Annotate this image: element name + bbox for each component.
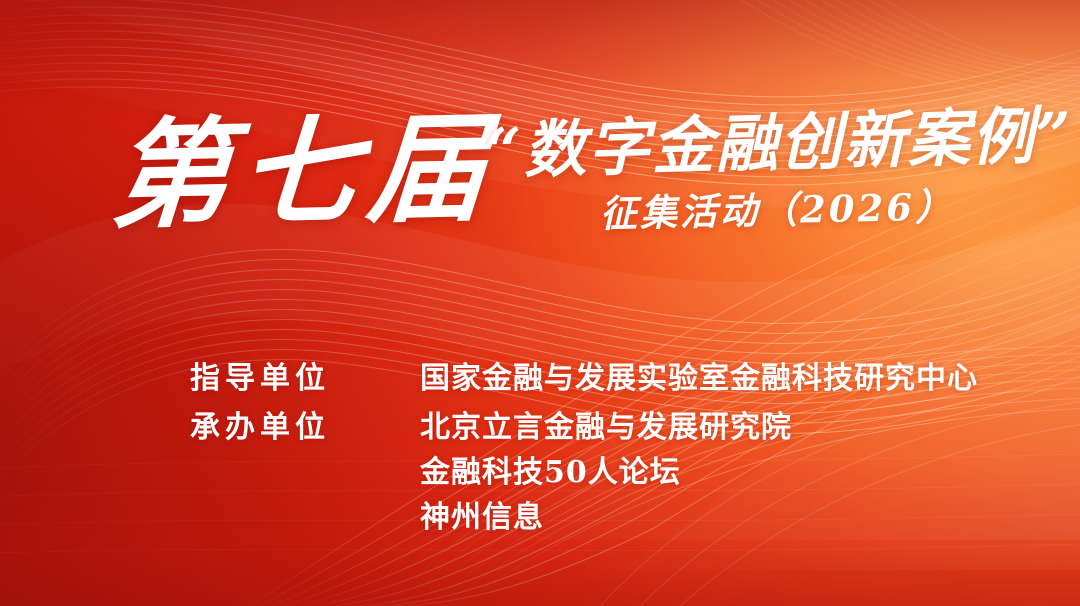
credit-value: 北京立言金融与发展研究院 [420,405,1050,450]
credits-block: 指导单位 国家金融与发展实验室金融科技研究中心 承办单位 北京立言金融与发展研究… [190,356,1050,544]
edition-title: 第七届 [107,104,500,239]
credit-values-guidance: 国家金融与发展实验室金融科技研究中心 [420,356,1050,401]
poster-content: 第七届 “数字金融创新案例” 征集活动（2026） 指导单位 国家金融与发展实验… [0,0,1080,606]
credit-value: 金融科技50人论坛 [420,450,1050,495]
credit-value: 神州信息 [420,495,1050,540]
credit-values-organizer: 北京立言金融与发展研究院 金融科技50人论坛 神州信息 [420,405,1050,540]
main-headline: “数字金融创新案例” [485,104,1047,184]
subtitle-year: 征集活动（2026） [600,186,956,234]
credit-label-organizer: 承办单位 [190,405,420,450]
credit-label-guidance: 指导单位 [190,356,420,401]
poster-banner: 第七届 “数字金融创新案例” 征集活动（2026） 指导单位 国家金融与发展实验… [0,0,1080,606]
credit-value: 国家金融与发展实验室金融科技研究中心 [420,356,1050,401]
credit-row: 承办单位 北京立言金融与发展研究院 金融科技50人论坛 神州信息 [190,405,1050,540]
credit-row: 指导单位 国家金融与发展实验室金融科技研究中心 [190,356,1050,401]
